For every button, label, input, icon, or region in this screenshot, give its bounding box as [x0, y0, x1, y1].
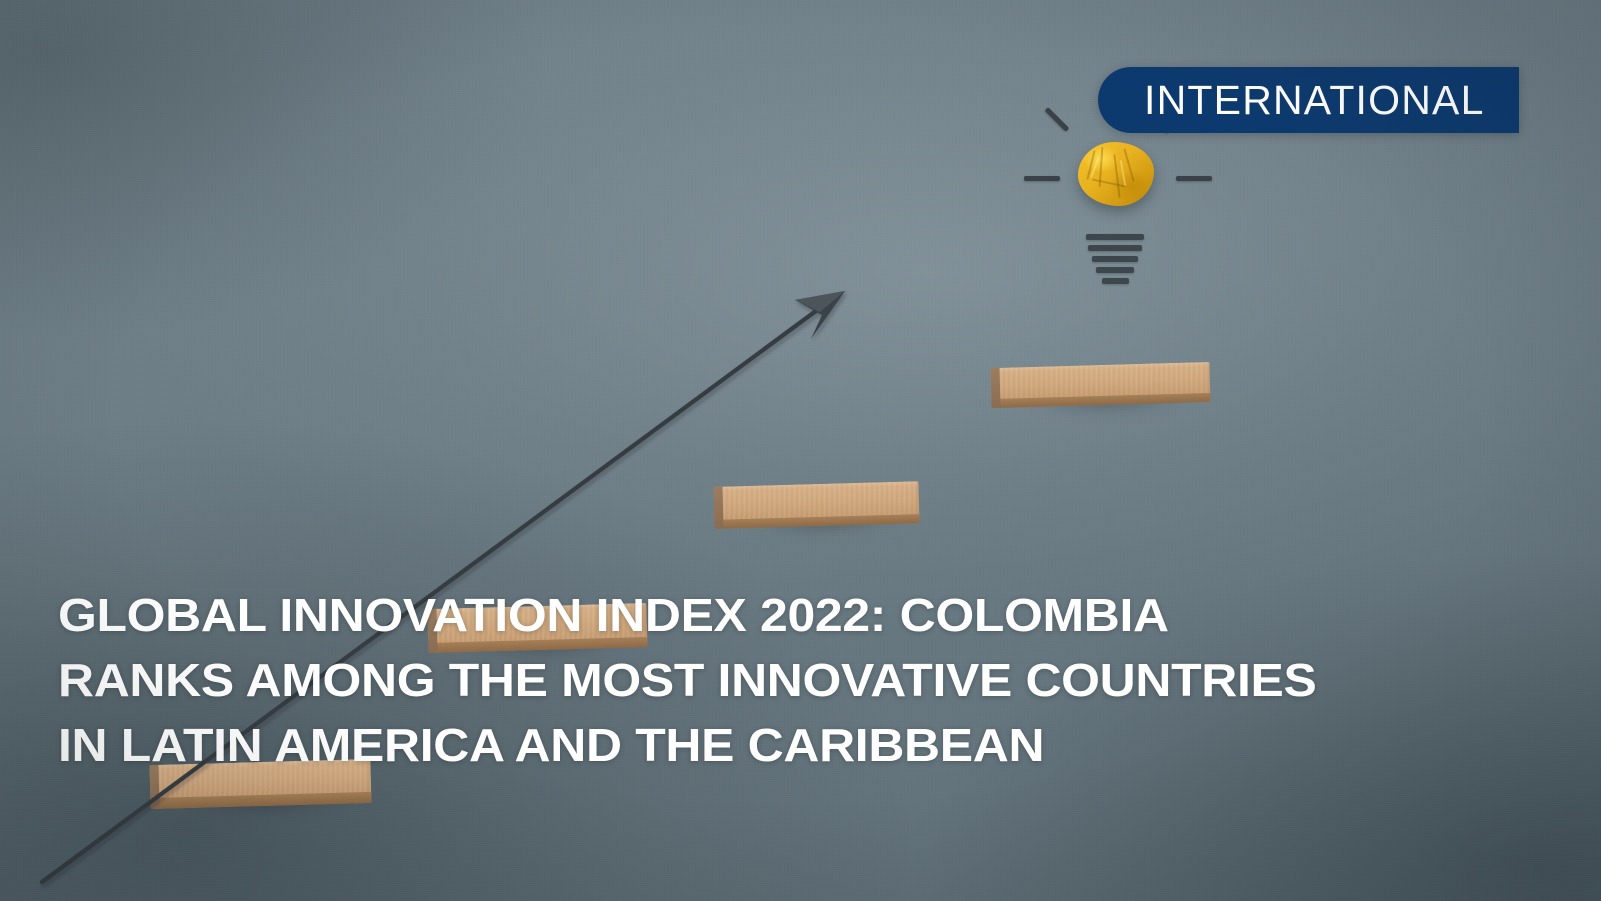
step-block-4 [990, 362, 1210, 408]
block-end-cap [990, 368, 1000, 408]
page-title: GLOBAL INNOVATION INDEX 2022: COLOMBIA R… [58, 583, 1478, 778]
bulb-base-line [1096, 267, 1134, 273]
headline-line-2: RANKS AMONG THE MOST INNOVATIVE COUNTRIE… [58, 648, 1599, 713]
block-end-cap [713, 487, 723, 529]
bulb-ray-left [1024, 176, 1060, 181]
category-badge[interactable]: INTERNATIONAL [1098, 67, 1519, 133]
step-block-3 [713, 481, 919, 529]
paper-crease [1092, 178, 1126, 187]
bulb-base-line [1102, 278, 1129, 284]
bulb-ray-upper-left [1045, 107, 1070, 132]
bulb-base-line [1092, 256, 1138, 262]
headline-line-1: GLOBAL INNOVATION INDEX 2022: COLOMBIA [58, 583, 1599, 648]
bulb-base-line [1088, 245, 1142, 251]
headline-line-3: IN LATIN AMERICA AND THE CARIBBEAN [58, 713, 1599, 778]
crumpled-paper-ball [1078, 142, 1154, 206]
banner-canvas: GLOBAL INNOVATION INDEX 2022: COLOMBIA R… [0, 0, 1601, 901]
paper-crease-highlight [1120, 160, 1126, 186]
category-badge-label: INTERNATIONAL [1144, 77, 1485, 124]
paper-crease [1123, 148, 1134, 181]
bulb-ray-right [1176, 176, 1212, 181]
bulb-base-line [1086, 234, 1144, 240]
